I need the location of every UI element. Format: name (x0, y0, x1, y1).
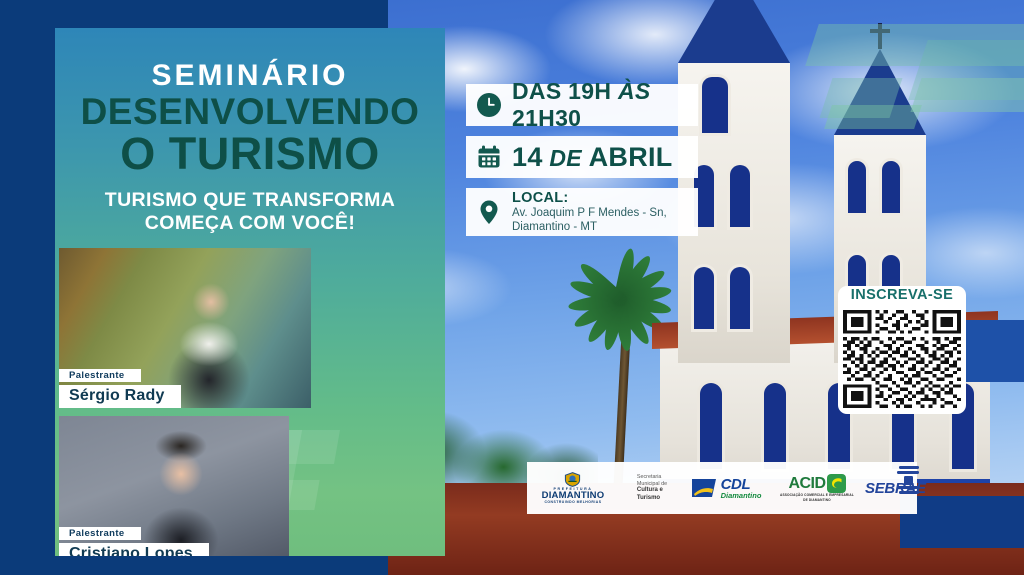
decor-parallelogram (824, 105, 922, 129)
secretaria-line-4: Turismo (637, 495, 660, 501)
location-title: LOCAL: (512, 190, 667, 206)
secretaria-line-3: Cultura e (637, 487, 663, 493)
speaker-name: Sérgio Rady (59, 385, 181, 408)
location-line-2: Diamantino - MT (512, 220, 667, 234)
event-banner: SEMINÁRIO DESENVOLVENDO O TURISMO TURISM… (0, 0, 1024, 575)
event-location-text: LOCAL: Av. Joaquim P F Mendes - Sn, Diam… (512, 190, 667, 235)
secretaria-line-1: Secretaria (637, 474, 667, 481)
speaker-name: Cristiano Lopes (59, 543, 209, 556)
main-tower-spire (678, 0, 790, 63)
main-tower-window (702, 77, 728, 133)
sponsor-prefeitura-diamantino: PREFEITURA DIAMANTINO CONSTRUINDO MELHOR… (535, 462, 611, 514)
decor-parallelogram (910, 78, 1024, 112)
subtitle-line-1: TURISMO QUE TRANSFORMA (55, 189, 445, 212)
speaker-photo-sergio-rady (59, 248, 311, 408)
time-connector: ÀS (618, 78, 651, 104)
sponsor-prefeitura-slogan: CONSTRUINDO MELHORIAS (542, 501, 605, 504)
secretaria-line-2: Municipal de (637, 481, 667, 488)
sponsor-sebrae: SEBRAE (865, 462, 926, 514)
time-prefix: DAS 19H (512, 78, 611, 104)
main-tower-window (730, 165, 750, 227)
subtitle-line-2: COMEÇA COM VOCÊ! (55, 212, 445, 235)
prefeitura-crest-icon (564, 472, 581, 487)
speaker-role-label: Palestrante (59, 369, 141, 382)
clock-icon (466, 92, 512, 118)
sponsor-cdl-diamantino: CDL Diamantino (683, 462, 769, 514)
qr-code-icon[interactable] (843, 310, 961, 408)
speaker-role-label: Palestrante (59, 527, 141, 540)
sponsor-secretaria-cultura-turismo: Secretaria Municipal de Cultura e Turism… (621, 462, 683, 514)
cdl-subtitle: Diamantino (721, 492, 762, 500)
calendar-icon (466, 144, 512, 170)
acid-subtitle-2: DE DIAMANTINO (803, 498, 831, 502)
sponsors-bar: PREFEITURA DIAMANTINO CONSTRUINDO MELHOR… (527, 462, 917, 514)
sebrae-name: SEBRAE (865, 480, 926, 497)
cdl-flag-icon (691, 475, 719, 501)
date-connector: DE (549, 145, 582, 171)
event-title-block: SEMINÁRIO DESENVOLVENDO O TURISMO TURISM… (55, 60, 445, 236)
registration-cta-label: INSCREVA-SE (838, 287, 966, 303)
time-suffix: 21H30 (512, 105, 581, 131)
title-seminario: SEMINÁRIO (55, 60, 445, 92)
event-date-text: 14 DE ABRIL (512, 142, 673, 173)
location-line-1: Av. Joaquim P F Mendes - Sn, (512, 206, 667, 220)
event-date-row: 14 DE ABRIL (466, 136, 698, 178)
speaker-card-cristiano-lopes: Palestrante Cristiano Lopes (59, 416, 289, 556)
main-tower-window (694, 267, 714, 329)
date-day: 14 (512, 142, 543, 172)
title-o-turismo: O TURISMO (55, 131, 445, 178)
side-tower-window (882, 161, 900, 213)
event-time-row: DAS 19H ÀS 21H30 (466, 84, 698, 126)
nave-window (700, 383, 722, 469)
side-tower-window (848, 161, 866, 213)
left-content-panel: SEMINÁRIO DESENVOLVENDO O TURISMO TURISM… (55, 28, 445, 556)
nave-window (764, 383, 786, 469)
map-pin-icon (466, 199, 512, 225)
cdl-name: CDL (721, 477, 762, 492)
acid-swirl-icon (827, 474, 846, 493)
main-tower-window (730, 267, 750, 329)
event-location-row: LOCAL: Av. Joaquim P F Mendes - Sn, Diam… (466, 188, 698, 236)
event-time-text: DAS 19H ÀS 21H30 (512, 78, 698, 132)
date-month: ABRIL (589, 142, 673, 172)
acid-name: ACID (788, 475, 825, 493)
speaker-card-sergio-rady: Palestrante Sérgio Rady (59, 248, 311, 408)
decor-blue-block-right (964, 320, 1024, 382)
title-desenvolvendo: DESENVOLVENDO (55, 92, 445, 131)
sponsor-acid: ACID ASSOCIAÇÃO COMERCIAL E EMPRESARIAL … (769, 462, 865, 514)
